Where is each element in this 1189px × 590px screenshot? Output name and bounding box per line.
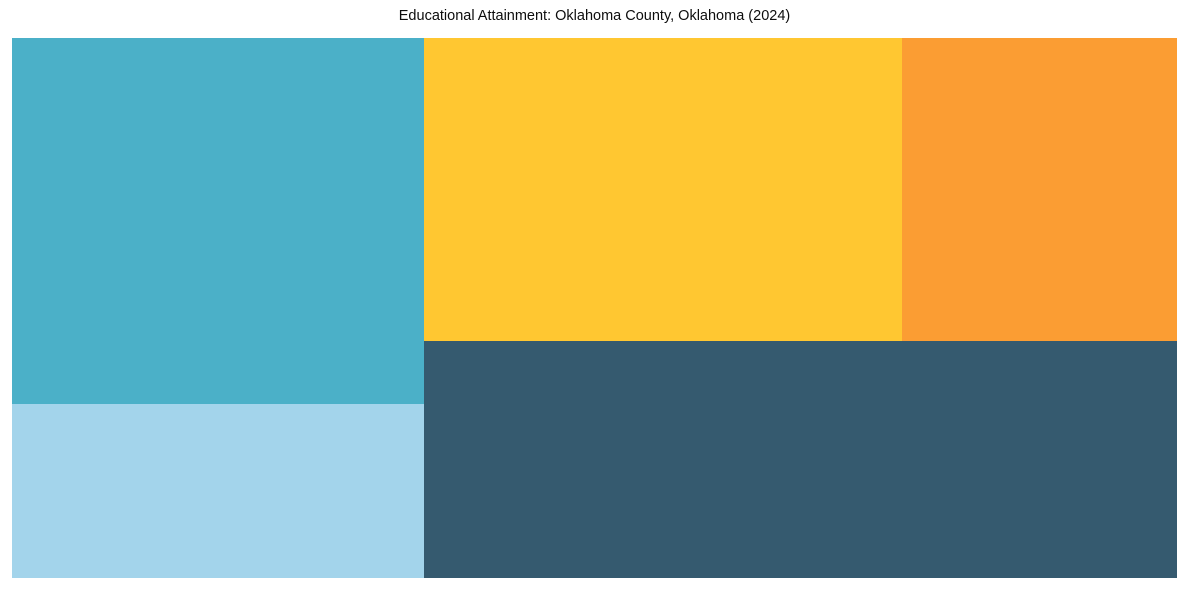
treemap-figure: Educational Attainment: Oklahoma County,… bbox=[0, 0, 1189, 590]
treemap-tile-4[interactable]: tile-4 bbox=[902, 38, 1177, 341]
treemap-tile-2[interactable]: tile-2 bbox=[424, 38, 902, 341]
treemap-tile-5[interactable]: tile-5 bbox=[12, 404, 424, 578]
chart-title: Educational Attainment: Oklahoma County,… bbox=[0, 7, 1189, 25]
treemap-tile-1[interactable]: tile-1 bbox=[12, 38, 424, 404]
treemap-tile-3[interactable]: tile-3 bbox=[424, 341, 1177, 578]
treemap-plot-area: tile-1 tile-2 tile-3 tile-4 tile-5 bbox=[12, 38, 1177, 578]
